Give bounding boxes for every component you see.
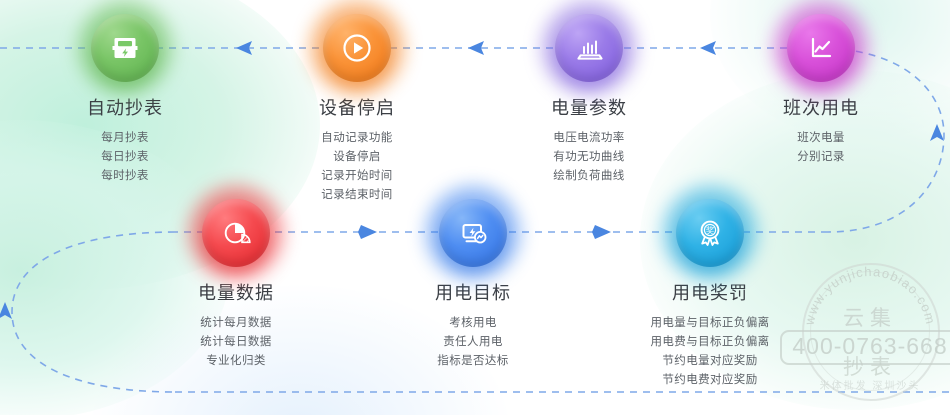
node-detail-line: 绘制负荷曲线 bbox=[484, 167, 694, 186]
node-title: 电量数据 bbox=[131, 283, 341, 305]
arrow-down-icon-right bbox=[930, 124, 944, 141]
node-detail-line: 用电量与目标正负偏离 bbox=[605, 314, 815, 333]
node-detail-line: 电压电流功率 bbox=[484, 129, 694, 148]
node-detail-list: 班次电量 分别记录 bbox=[716, 129, 926, 167]
node-detail-list: 用电量与目标正负偏离 用电费与目标正负偏离 节约电量对应奖励 节约电费对应奖励 bbox=[605, 314, 815, 390]
node-bubble-wrap bbox=[555, 14, 623, 82]
flow-node-power-data[interactable]: 电量数据 统计每月数据 统计每日数据 专业化归类 bbox=[131, 199, 341, 371]
node-detail-line: 班次电量 bbox=[716, 129, 926, 148]
flow-node-auto-meter-reading[interactable]: 自动抄表 每月抄表 每日抄表 每时抄表 bbox=[20, 14, 230, 186]
node-detail-line: 每时抄表 bbox=[20, 167, 230, 186]
flow-node-power-reward-penalty[interactable]: 奖 用电奖罚 用电量与目标正负偏离 用电费与目标正负偏离 节约电量对应奖励 节约… bbox=[605, 199, 815, 390]
arrow-down-icon-left bbox=[0, 302, 12, 319]
node-detail-line: 每日抄表 bbox=[20, 148, 230, 167]
flow-node-power-target[interactable]: 用电目标 考核用电 责任人用电 指标是否达标 bbox=[368, 199, 578, 371]
node-detail-line: 统计每日数据 bbox=[131, 333, 341, 352]
node-detail-line: 记录开始时间 bbox=[252, 167, 462, 186]
node-detail-line: 分别记录 bbox=[716, 148, 926, 167]
award-medal-icon: 奖 bbox=[691, 214, 729, 252]
node-title: 用电目标 bbox=[368, 283, 578, 305]
node-bubble-wrap bbox=[323, 14, 391, 82]
node-bubble-wrap bbox=[439, 199, 507, 267]
node-detail-list: 电压电流功率 有功无功曲线 绘制负荷曲线 bbox=[484, 129, 694, 186]
node-bubble[interactable]: 奖 bbox=[676, 199, 744, 267]
node-bubble-wrap bbox=[91, 14, 159, 82]
node-bubble[interactable] bbox=[323, 14, 391, 82]
node-detail-list: 考核用电 责任人用电 指标是否达标 bbox=[368, 314, 578, 371]
pie-chart-icon bbox=[218, 215, 254, 251]
node-detail-line: 考核用电 bbox=[368, 314, 578, 333]
infographic-canvas: 自动抄表 每月抄表 每日抄表 每时抄表 设备停启 自动记录功能 设备停启 记 bbox=[0, 0, 950, 415]
node-detail-line: 节约电量对应奖励 bbox=[605, 352, 815, 371]
node-bubble-wrap bbox=[202, 199, 270, 267]
flow-node-shift-power-usage[interactable]: 班次用电 班次电量 分别记录 bbox=[716, 14, 926, 167]
node-title: 设备停启 bbox=[252, 98, 462, 120]
node-detail-line: 统计每月数据 bbox=[131, 314, 341, 333]
node-detail-line: 责任人用电 bbox=[368, 333, 578, 352]
node-detail-list: 自动记录功能 设备停启 记录开始时间 记录结束时间 bbox=[252, 129, 462, 205]
node-detail-list: 统计每月数据 统计每日数据 专业化归类 bbox=[131, 314, 341, 371]
node-bubble[interactable] bbox=[787, 14, 855, 82]
node-detail-line: 每月抄表 bbox=[20, 129, 230, 148]
node-detail-line: 自动记录功能 bbox=[252, 129, 462, 148]
node-bubble-wrap: 奖 bbox=[676, 199, 744, 267]
node-bubble[interactable] bbox=[202, 199, 270, 267]
arrow-right-icon-3 bbox=[700, 41, 716, 55]
node-detail-line: 设备停启 bbox=[252, 148, 462, 167]
monitor-power-icon bbox=[455, 215, 491, 251]
node-title: 班次用电 bbox=[716, 98, 926, 120]
node-detail-line: 指标是否达标 bbox=[368, 352, 578, 371]
electric-meter-icon bbox=[108, 31, 142, 65]
play-circle-icon bbox=[339, 30, 375, 66]
node-title: 用电奖罚 bbox=[605, 283, 815, 305]
node-bubble[interactable] bbox=[555, 14, 623, 82]
bar-chart-icon bbox=[571, 30, 607, 66]
node-detail-line: 用电费与目标正负偏离 bbox=[605, 333, 815, 352]
node-bubble[interactable] bbox=[91, 14, 159, 82]
svg-text:奖: 奖 bbox=[706, 226, 715, 236]
node-detail-line: 专业化归类 bbox=[131, 352, 341, 371]
node-title: 电量参数 bbox=[484, 98, 694, 120]
node-bubble-wrap bbox=[787, 14, 855, 82]
line-chart-icon bbox=[803, 30, 839, 66]
flow-node-power-parameters[interactable]: 电量参数 电压电流功率 有功无功曲线 绘制负荷曲线 bbox=[484, 14, 694, 186]
node-detail-list: 每月抄表 每日抄表 每时抄表 bbox=[20, 129, 230, 186]
node-title: 自动抄表 bbox=[20, 98, 230, 120]
node-detail-line: 节约电费对应奖励 bbox=[605, 371, 815, 390]
node-detail-line: 有功无功曲线 bbox=[484, 148, 694, 167]
node-bubble[interactable] bbox=[439, 199, 507, 267]
flow-node-device-start-stop[interactable]: 设备停启 自动记录功能 设备停启 记录开始时间 记录结束时间 bbox=[252, 14, 462, 205]
